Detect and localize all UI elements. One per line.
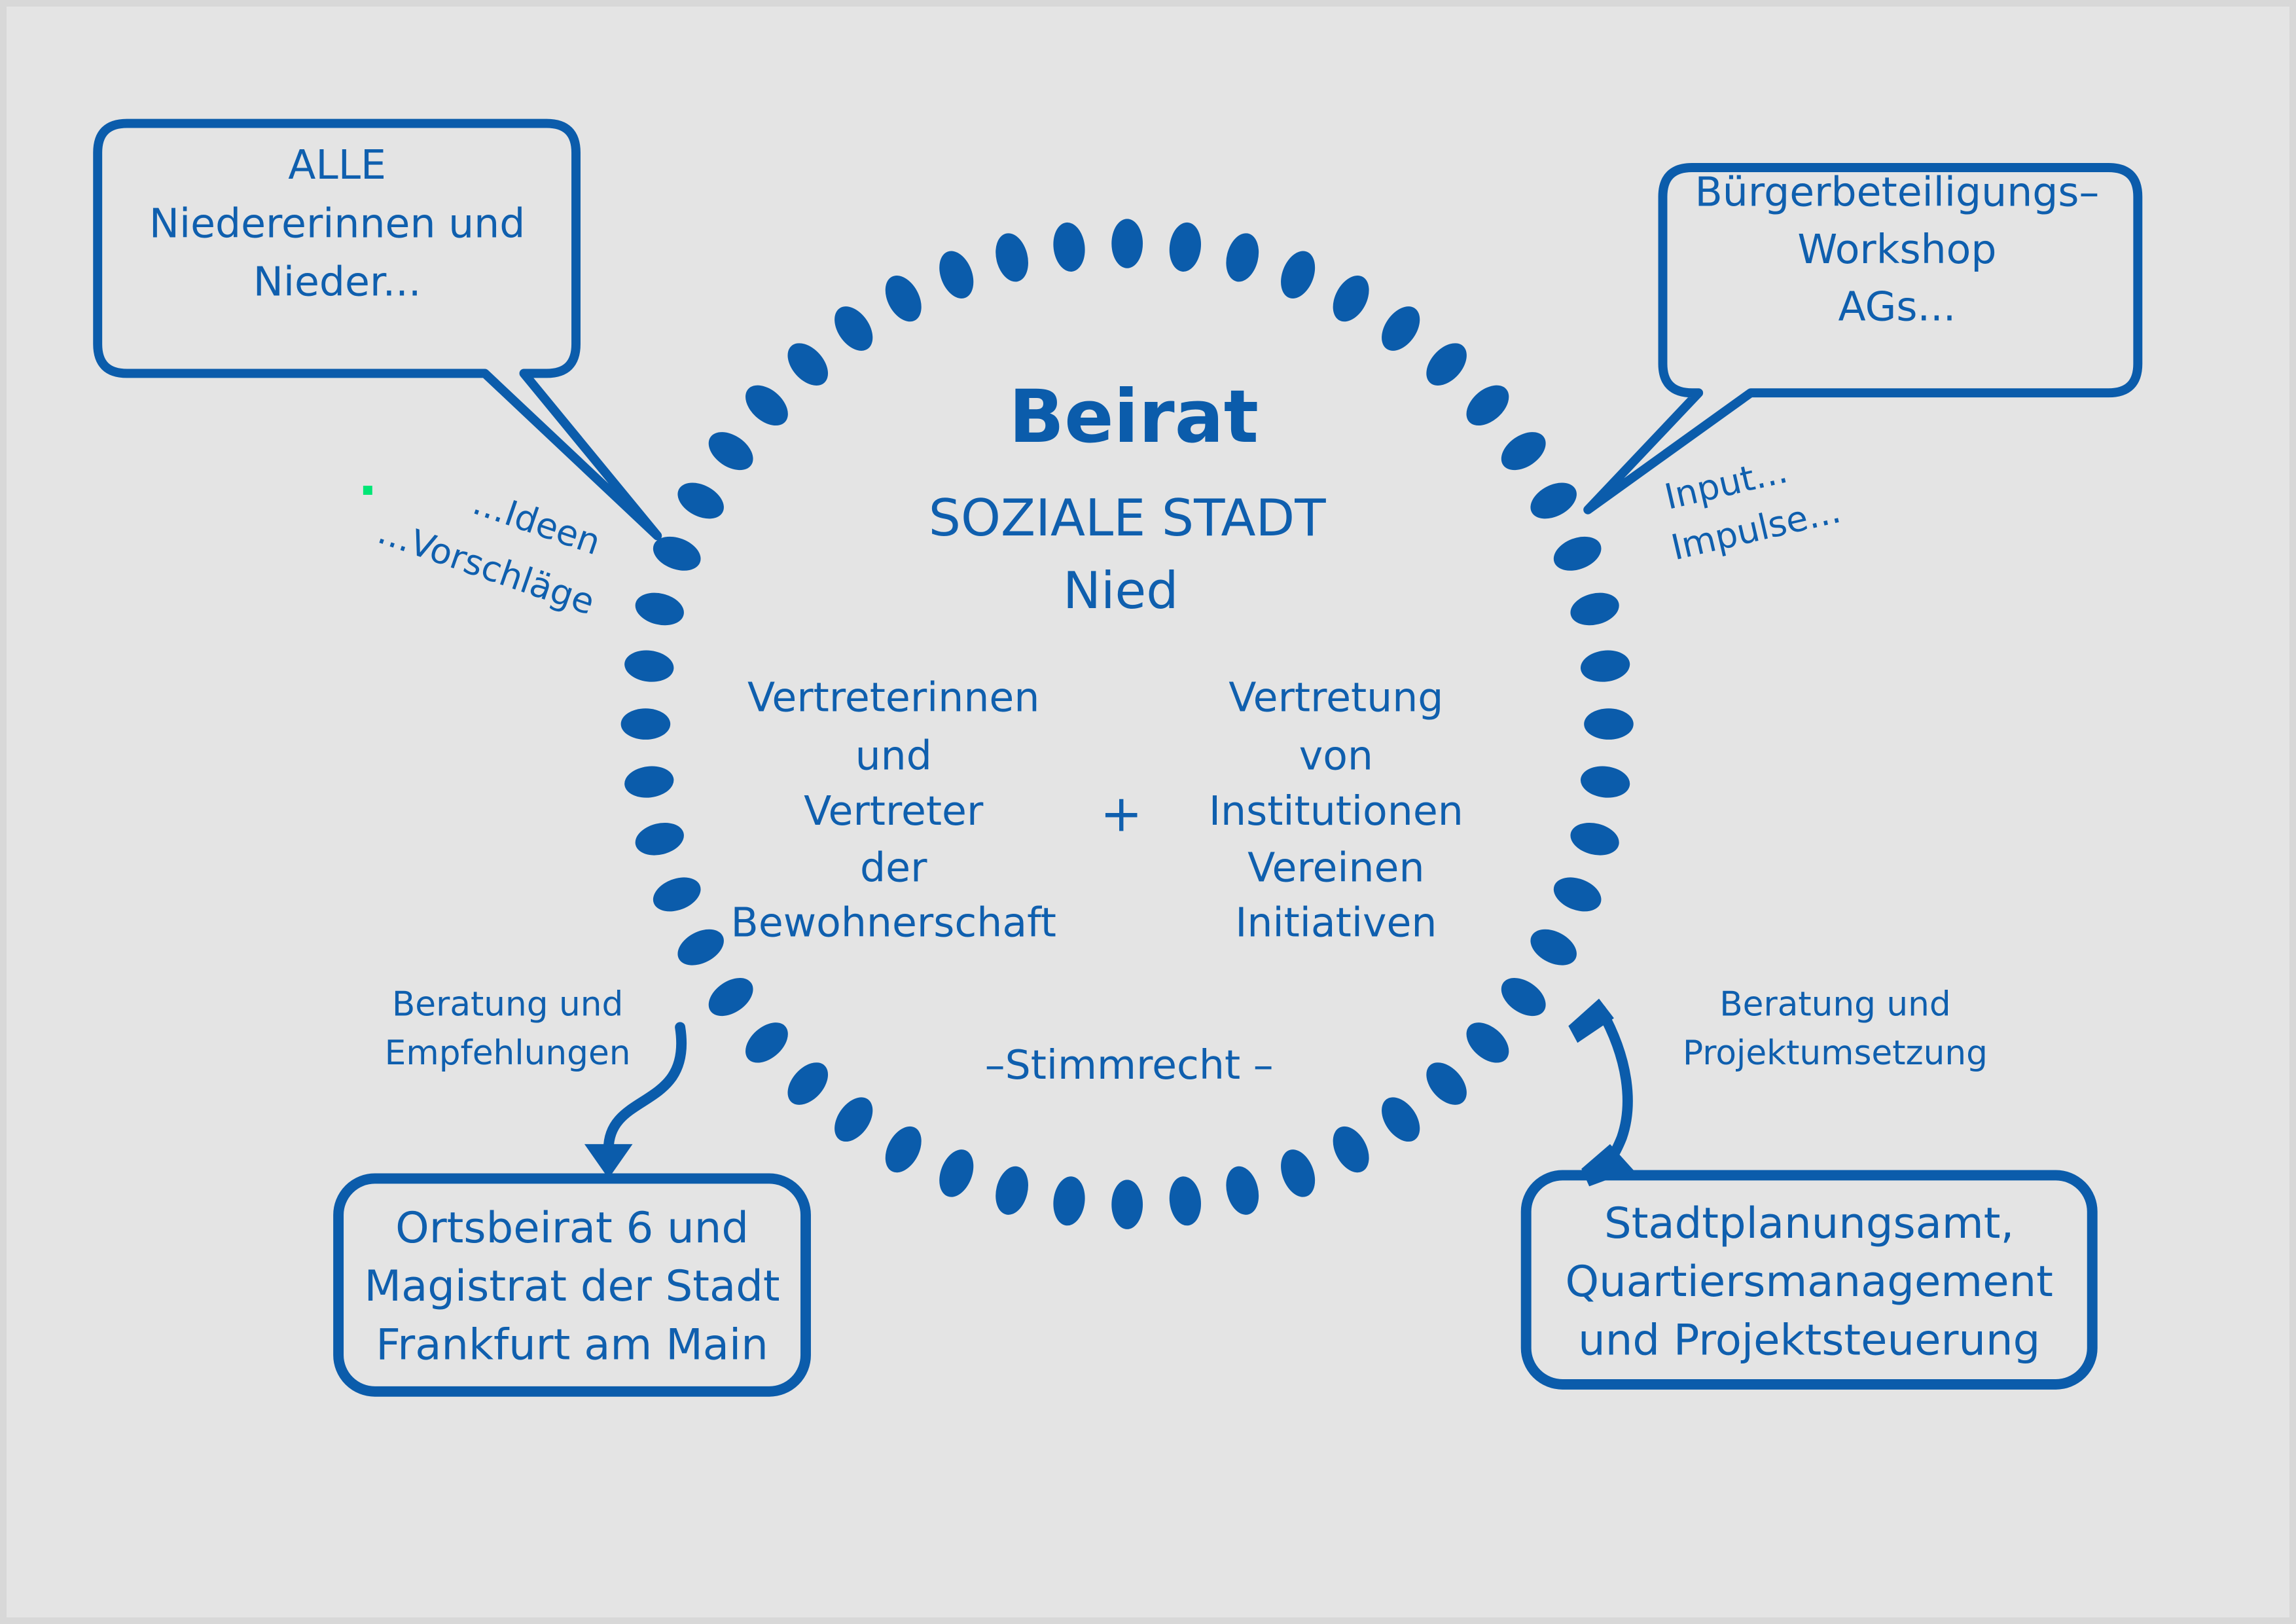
box-left-line-1: Ortsbeirat 6 und xyxy=(395,1203,749,1253)
ring-dot xyxy=(1418,336,1475,393)
ring-dot xyxy=(878,1121,929,1179)
ring-dot xyxy=(702,424,760,478)
right-col-line-4: Vereinen xyxy=(1247,844,1424,891)
bubble-left-line-1: ALLE xyxy=(288,141,386,189)
ring-dot xyxy=(878,270,929,328)
ring-dot xyxy=(622,763,675,800)
ring-dot xyxy=(933,246,980,303)
center-subtitle: SOZIALE STADT xyxy=(929,489,1327,548)
left-col-line-5: Bewohnerschaft xyxy=(731,899,1056,947)
ring-dot xyxy=(672,922,730,973)
right-col-line-3: Institutionen xyxy=(1209,787,1463,835)
ring-dot xyxy=(933,1145,980,1202)
ring-dot xyxy=(622,647,675,684)
ring-dot xyxy=(1567,588,1623,630)
ring-dot xyxy=(780,336,836,393)
box-ortsbeirat[interactable]: Ortsbeirat 6 und Magistrat der Stadt Fra… xyxy=(338,1178,806,1391)
green-marker-icon xyxy=(363,486,372,495)
ring-dot xyxy=(827,299,880,357)
ring-dot xyxy=(1374,299,1427,357)
ring-dot xyxy=(621,708,671,740)
bubble-outline-right xyxy=(1588,168,2138,510)
center-group: Beirat SOZIALE STADT Nied Vertreterinnen… xyxy=(731,375,1463,1089)
center-title: Beirat xyxy=(1009,375,1259,460)
ring-dot xyxy=(1567,818,1623,860)
ring-dot xyxy=(1579,763,1632,800)
left-col-line-4: der xyxy=(860,844,927,891)
right-col-line-1: Vertretung xyxy=(1229,674,1443,721)
box-stadtplanungsamt[interactable]: Stadtplanungsamt, Quartiersmanagement un… xyxy=(1526,1175,2092,1384)
ring-dot xyxy=(1325,270,1376,328)
box-right-line-2: Quartiersmanagement xyxy=(1566,1257,2053,1307)
ring-dot xyxy=(1494,424,1552,478)
bubble-left-line-3: Nieder... xyxy=(253,259,422,306)
ring-dot xyxy=(632,588,687,630)
ring-dot xyxy=(1524,475,1583,526)
ring-dot xyxy=(1549,530,1606,577)
ring-dot xyxy=(1274,1145,1321,1202)
ring-dot xyxy=(738,378,795,434)
box-right-line-1: Stadtplanungsamt, xyxy=(1604,1199,2014,1248)
right-arrow-label-1: Beratung und xyxy=(1719,985,1951,1024)
ring-dot xyxy=(1167,1174,1204,1227)
bubble-right-line-3: AGs... xyxy=(1839,283,1956,330)
box-left-line-3: Frankfurt am Main xyxy=(376,1320,768,1369)
arrow-right-head-up-icon xyxy=(1568,999,1614,1043)
ring-dot xyxy=(827,1091,880,1149)
bubble-right-line-1: Bürgerbeteiligungs– xyxy=(1695,169,2100,216)
ring-dot xyxy=(1111,1180,1143,1229)
annotation-left-slant: ...Ideen ...Vorschläge xyxy=(363,481,606,623)
ring-dot xyxy=(1050,1174,1087,1227)
bubble-right-line-2: Workshop xyxy=(1797,226,1996,273)
ring-dot xyxy=(780,1055,836,1113)
ring-dot xyxy=(1325,1121,1376,1179)
right-arrow-label-2: Projektumsetzung xyxy=(1683,1034,1988,1073)
arrow-to-ortsbeirat: Beratung und Empfehlungen xyxy=(385,985,681,1179)
arrow-to-stadtplanungsamt: Beratung und Projektumsetzung xyxy=(1568,985,1988,1187)
ring-dot xyxy=(648,871,706,918)
ring-dot xyxy=(1418,1055,1475,1113)
ring-dot xyxy=(1374,1091,1427,1149)
right-col-line-2: von xyxy=(1299,732,1373,780)
ring-dot xyxy=(702,970,760,1024)
center-location: Nied xyxy=(1063,562,1178,621)
ring-dot xyxy=(1111,219,1143,268)
left-col-line-2: und xyxy=(855,732,932,780)
ring-dot xyxy=(1221,230,1263,285)
left-col-line-1: Vertreterinnen xyxy=(747,674,1039,721)
ring-dot xyxy=(991,1163,1033,1219)
diagram-canvas: ALLE Niedererinnen und Nieder... Bürgerb… xyxy=(0,0,2296,1624)
ring-dot xyxy=(632,818,687,860)
ring-dot xyxy=(1167,221,1204,274)
annotation-right-slant: Input... Impulse... xyxy=(1660,450,1844,568)
left-col-line-3: Vertreter xyxy=(804,787,984,835)
ring-dot xyxy=(1221,1163,1263,1219)
plus-separator: + xyxy=(1100,784,1143,843)
ring-dot xyxy=(1050,221,1087,274)
ring-dot xyxy=(738,1015,795,1071)
box-left-line-2: Magistrat der Stadt xyxy=(364,1261,780,1311)
ring-dot xyxy=(991,230,1033,285)
ring-dot xyxy=(1524,922,1583,973)
speech-bubble-top-left[interactable]: ALLE Niedererinnen und Nieder... xyxy=(98,124,657,536)
bubble-left-line-2: Niedererinnen und xyxy=(149,200,526,247)
ring-dot xyxy=(1274,246,1321,303)
ring-dot xyxy=(672,475,730,526)
ring-dot xyxy=(1494,970,1552,1024)
left-arrow-label-2: Empfehlungen xyxy=(385,1034,631,1073)
beirat-diagram: ALLE Niedererinnen und Nieder... Bürgerb… xyxy=(7,7,2289,1617)
ring-dot xyxy=(1579,647,1632,684)
ring-dot xyxy=(1584,708,1634,740)
right-col-line-5: Initiativen xyxy=(1235,899,1437,947)
box-right-line-3: und Projektsteuerung xyxy=(1578,1316,2040,1365)
ring-dot xyxy=(1549,871,1606,918)
ring-dot xyxy=(1459,378,1516,434)
stimmrecht-label: –Stimmrecht – xyxy=(985,1041,1274,1089)
left-arrow-label-1: Beratung und xyxy=(392,985,624,1024)
speech-bubble-top-right[interactable]: Bürgerbeteiligungs– Workshop AGs... xyxy=(1588,168,2138,510)
ring-dot xyxy=(1459,1015,1516,1071)
